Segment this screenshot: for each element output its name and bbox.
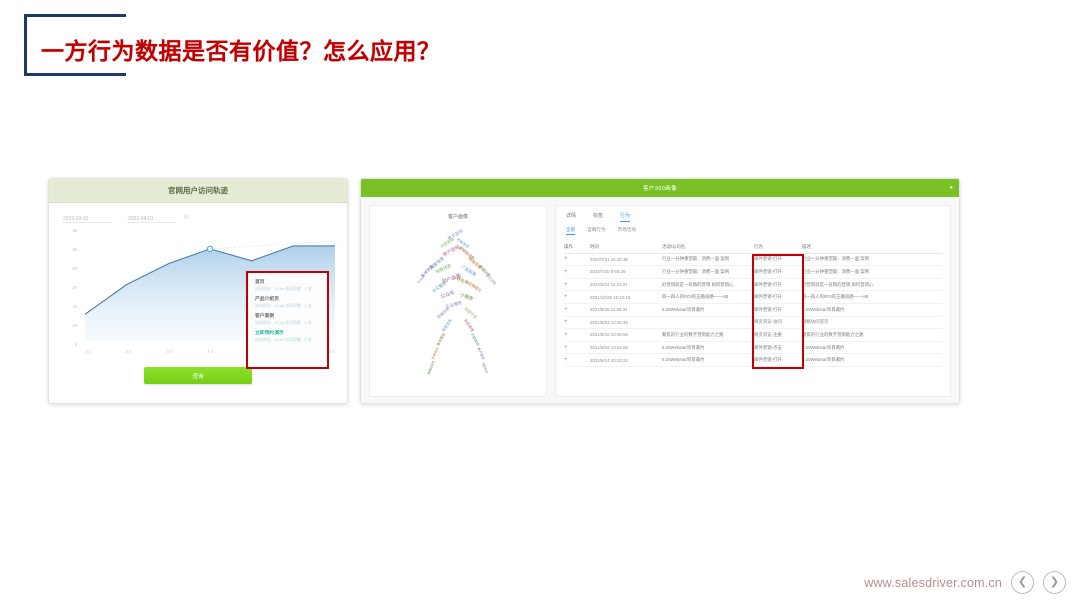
cell-action: 邮件营销-点击 [754,345,802,351]
wordcloud-word: 市场活动 [430,347,440,361]
column-header-activity: 活动/公司名 [662,244,754,250]
table-row[interactable]: +2021/8/03 14:26:45网页浏览-访问网络访问首页 [564,317,942,330]
chart-tooltip-panel: 首页 访问时长：12.4s 访问页数：1 次 产品介绍页 访问时长：12.4s … [246,271,329,369]
wordcloud-word: 线索培育 [481,361,490,374]
cell-desc: 5.20Webinar项目邀约 [802,307,942,313]
wordcloud-word: 数字营销 [435,332,446,347]
tooltip-item: 客户案例 访问时长：12.4s 访问页数：1 次 [255,313,321,326]
prev-slide-button[interactable]: ❮ [1011,571,1034,594]
cell-desc: 5.20Webinar项目邀约 [802,345,942,351]
tooltip-item-detail: 访问时长：12.4s 访问页数：1 次 [255,320,321,326]
cell-desc: 行业一分钟重塑篇：消费—面 案例 [802,256,942,262]
page-title: 一方行为数据是否有价值？怎么应用？ [41,32,441,66]
cell-desc: 好营销就是一有稿的营销 如何营销心 [802,282,942,288]
tooltip-item-detail: 访问时长：12.4s 访问页数：1 次 [255,337,321,343]
cell-action: 邮件营销-打开 [754,282,802,288]
cell-activity: 聚焦的行业的数字营销能力之路 [662,332,754,338]
tooltip-item: 产品介绍页 访问时长：12.4s 访问页数：1 次 [255,296,321,309]
cell-action: 网页浏览-访问 [754,319,802,325]
wordcloud-word: 公众号 [440,290,456,300]
plus-icon[interactable]: + [564,269,590,275]
slide-root: 一方行为数据是否有价值？怎么应用？ 官网用户访问轨迹 2022-03-01 → … [0,0,1080,608]
wordcloud-word: 直播获客 [436,306,451,320]
table-row[interactable]: +2022/7/20 9:58:26行业一分钟重塑篇：消费—面 案例邮件营销-打… [564,266,942,279]
plus-icon[interactable]: + [564,256,590,262]
wordcloud-word: 标签体系 [441,317,454,332]
table-row[interactable]: +2021/5/16 13:44:585.20Webinar项目邀约邮件营销-点… [564,342,942,355]
footer-url[interactable]: www.salesdriver.com.cn [864,576,1002,590]
cell-desc: 聚焦的行业的数字营销能力之路 [802,332,942,338]
table-row[interactable]: +2022/3/22 11:23:37好营销就是一有稿的营销 如何营销心邮件营销… [564,279,942,292]
subtab-marketing-activity[interactable]: 市场活动 [618,227,636,235]
slide-title-block: 一方行为数据是否有价值？怎么应用？ [24,14,664,80]
column-header-action: 行为 [754,244,802,250]
plus-icon[interactable]: + [564,307,590,313]
date-range-picker[interactable]: 2022-03-01 → 2022-04-01 ▤ [57,209,339,225]
x-tick-label: 3-4 [207,349,213,354]
calendar-icon[interactable]: ▤ [184,214,189,220]
x-tick-label: 3-2 [126,349,132,354]
cell-time: 2021/5/14 10:43:22 [590,358,662,363]
y-tick-label: 20 [72,286,77,290]
y-tick-label: 5 [75,343,77,347]
query-button[interactable]: 查询 [144,367,252,384]
date-end-input[interactable]: 2022-04-01 [128,212,176,223]
plus-icon[interactable]: + [564,319,590,325]
cell-activity: 5.20Webinar项目邀约 [662,307,754,313]
tab-behavior[interactable]: 行为 [620,212,630,222]
date-start-input[interactable]: 2022-03-01 [63,212,111,223]
cell-activity: 5.20Webinar项目邀约 [662,345,754,351]
right-card-title: 客户360画像 [643,184,677,192]
cell-activity: 5.20Webinar项目邀约 [662,357,754,363]
chart-y-axis: 35 30 25 20 15 10 5 [57,229,77,347]
screenshot-row: 官网用户访问轨迹 2022-03-01 → 2022-04-01 ▤ 35 30… [0,178,1080,408]
slide-footer: www.salesdriver.com.cn ❮ ❯ [864,571,1066,594]
cell-time: 2022/3/22 11:23:37 [590,282,662,287]
tooltip-item-name: 产品介绍页 [255,296,321,303]
website-trajectory-card: 官网用户访问轨迹 2022-03-01 → 2022-04-01 ▤ 35 30… [48,178,348,404]
left-card-body: 2022-03-01 → 2022-04-01 ▤ 35 30 25 20 15… [49,203,347,404]
behavior-table: 操作 时间 活动/公司名 行为 描述 +2022/7/21 16:30:36行业… [564,241,942,367]
cell-desc: 行业一分钟重塑篇：消费—面 案例 [802,269,942,275]
tab-tags[interactable]: 标签 [593,212,603,222]
cell-action: 邮件营销-打开 [754,269,802,275]
tooltip-item-detail: 访问时长：12.4s 访问页数：1 次 [255,286,321,292]
plus-icon[interactable]: + [564,294,590,300]
customer-profile-card: 客户360画像 ● 客户画像 数字营销内容营销市场活动客户旅程营销自动化线索培育… [360,178,960,404]
cell-desc: 5.20Webinar项目邀约 [802,357,942,363]
tooltip-item-name: 客户案例 [255,313,321,320]
cell-time: 2021/5/16 13:44:58 [590,345,662,350]
plus-icon[interactable]: + [564,357,590,363]
table-row[interactable]: +2021/10/26 16:12:15四一四人的ROI的正确道路——AB邮件营… [564,291,942,304]
y-tick-label: 35 [72,229,77,233]
tooltip-item: 首页 访问时长：12.4s 访问页数：1 次 [255,279,321,292]
table-row[interactable]: +2022/7/21 16:30:36行业一分钟重塑篇：消费—面 案例邮件营销-… [564,254,942,267]
cell-time: 2022/7/20 9:58:26 [590,269,662,274]
cell-desc: 网络访问首页 [802,319,942,325]
plus-icon[interactable]: + [564,332,590,338]
left-card-footer: 查询 [57,367,339,384]
cell-action: 邮件营销-打开 [754,294,802,300]
y-tick-label: 30 [72,248,77,252]
wordcloud-svg: 数字营销内容营销市场活动客户旅程营销自动化线索培育精准获客私域流量数据分析SCR… [378,222,538,390]
cell-time: 2022/7/21 16:30:36 [590,257,662,262]
y-tick-label: 25 [72,267,77,271]
plus-icon[interactable]: + [564,282,590,288]
x-tick-label: 3-3 [166,349,172,354]
cell-time: 2021/8/16 10:48:06 [590,332,662,337]
tooltip-item-detail: 访问时长：12.4s 访问页数：1 次 [255,303,321,309]
cell-activity: 行业一分钟重塑篇：消费—面 案例 [662,269,754,275]
cell-action: 邮件营销-打开 [754,357,802,363]
x-tick-label: 3-7 [329,349,335,354]
cell-action: 网页浏览-注册 [754,332,802,338]
subtab-all[interactable]: 全部 [566,227,575,235]
user-icon[interactable]: ● [949,185,953,191]
x-tick-label: 3-1 [85,349,91,354]
wordcloud-human-silhouette: 数字营销内容营销市场活动客户旅程营销自动化线索培育精准获客私域流量数据分析SCR… [378,222,538,390]
right-card-body: 客户画像 数字营销内容营销市场活动客户旅程营销自动化线索培育精准获客私域流量数据… [361,197,959,404]
cell-time: 2021/8/26 11:55:34 [590,307,662,312]
subtab-bar: 全部 官网行为 市场活动 [564,227,942,235]
column-header-time: 时间 [590,244,662,250]
wordcloud-word: 商机管理 [463,318,476,333]
cell-action: 邮件营销-打开 [754,307,802,313]
y-tick-label: 15 [72,305,77,309]
table-header-row: 操作 时间 活动/公司名 行为 描述 [564,241,942,254]
next-slide-button[interactable]: ❯ [1043,571,1066,594]
right-card-header: 客户360画像 ● [361,179,959,197]
table-row[interactable]: +2021/8/26 11:55:345.20Webinar项目邀约邮件营销-打… [564,304,942,317]
persona-panel: 客户画像 数字营销内容营销市场活动客户旅程营销自动化线索培育精准获客私域流量数据… [369,205,547,397]
left-card-header: 官网用户访问轨迹 [49,179,347,203]
wordcloud-word: 内容营销 [470,332,481,347]
subtab-website-behavior[interactable]: 官网行为 [587,227,605,235]
table-row[interactable]: +2021/5/14 10:43:225.20Webinar项目邀约邮件营销-打… [564,354,942,367]
tab-bar: 详情 标签 行为 [564,212,942,222]
plus-icon[interactable]: + [564,345,590,351]
wordcloud-word: 客户旅程 [476,347,486,361]
tooltip-item-name: 首页 [255,279,321,286]
date-range-arrow-icon: → [117,214,122,220]
cell-desc: 四一四人的ROI的正确道路——AB [802,294,942,300]
column-header-desc: 描述 [802,244,942,250]
cell-activity: 行业一分钟重塑篇：消费—面 案例 [662,256,754,262]
cell-time: 2021/8/03 14:26:45 [590,320,662,325]
cell-time: 2021/10/26 16:12:15 [590,295,662,300]
tab-details[interactable]: 详情 [566,212,576,222]
left-card-title: 官网用户访问轨迹 [168,185,228,196]
wordcloud-word: 社交裂变 [431,279,448,293]
cell-activity: 四一四人的ROI的正确道路——AB [662,294,754,300]
wordcloud-word: 营销自动化 [426,360,436,375]
column-header-operation: 操作 [564,244,590,250]
persona-title: 客户画像 [448,213,468,220]
table-row[interactable]: +2021/8/16 10:48:06聚焦的行业的数字营销能力之路网页浏览-注册… [564,329,942,342]
cell-activity: 好营销就是一有稿的营销 如何营销心 [662,282,754,288]
cell-action: 邮件营销-打开 [754,256,802,262]
tooltip-item-name-highlighted: 立即预约演示 [255,330,321,337]
line-chart: 35 30 25 20 15 10 5 [57,229,339,361]
y-tick-label: 10 [72,324,77,328]
wordcloud-word: 品牌曝光 [467,280,482,293]
behavior-table-panel: 详情 标签 行为 全部 官网行为 市场活动 操作 时间 活动/公司名 [555,205,951,397]
tooltip-item: 立即预约演示 访问时长：12.4s 访问页数：1 次 [255,330,321,343]
